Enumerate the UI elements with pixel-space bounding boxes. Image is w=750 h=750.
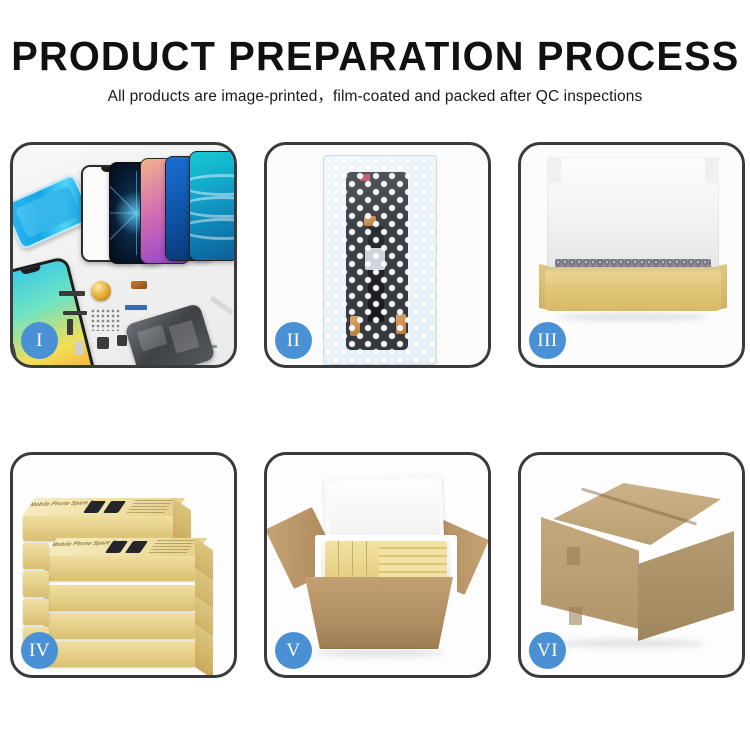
step-image-carton-packing: V [267,455,488,675]
retail-box [23,543,49,569]
drop-shadow [315,649,445,657]
drop-shadow [555,639,705,648]
tweezers-tool-icon [210,296,234,315]
button-flex-part [125,305,147,310]
carton-body [305,577,453,649]
box-lid-open [547,157,719,269]
flex-cable-part [63,311,87,315]
connector-part [131,281,147,289]
page-subtitle: All products are image-printed，film-coat… [0,84,750,106]
step-badge-4: IV [21,632,58,669]
box-tray-yellow [545,267,721,311]
step-image-raw-parts: I [13,145,234,365]
carton-tape-upper [567,547,580,565]
step-panel-2[interactable]: II [264,142,491,368]
vibrator-part [117,335,127,346]
step-badge-6: VI [529,632,566,669]
product-preparation-infographic: PRODUCT PREPARATION PROCESS All products… [0,0,750,750]
step-image-boxed-stack: Mobile Phone Spare Parts Mobile Phone Sp… [13,455,234,675]
camera-ring-part [91,281,111,301]
phone-backplate-part [124,303,216,365]
page-title: PRODUCT PREPARATION PROCESS [11,33,739,80]
carton-side-face [638,531,734,641]
retail-box [23,571,49,597]
step-panel-6[interactable]: VI [518,452,745,678]
antenna-strip-part [59,291,85,296]
retail-box: Mobile Phone Spare Parts [45,555,195,581]
step-badge-2: II [275,322,312,359]
retail-box [45,613,195,639]
step-panel-3[interactable]: III [518,142,745,368]
sim-tray-part [75,341,83,355]
carton-tape-lower [569,607,582,625]
step-panel-5[interactable]: V [264,452,491,678]
speaker-part [97,337,109,349]
retail-box [23,599,49,625]
retail-box [45,641,195,667]
step-image-sealed-carton: VI [521,455,742,675]
bracket-part [67,319,73,335]
step-badge-3: III [529,322,566,359]
step-panel-1[interactable]: I [10,142,237,368]
bubble-texture [324,156,436,364]
retail-box [45,585,195,611]
bubble-wrap-bag [323,155,437,365]
step-image-foam-box: III [521,145,742,365]
drop-shadow [557,313,709,321]
step-badge-5: V [275,632,312,669]
phone-teal-icon [189,151,234,261]
step-panel-4[interactable]: Mobile Phone Spare Parts Mobile Phone Sp… [10,452,237,678]
step-badge-1: I [21,322,58,359]
logic-board-part [91,309,121,331]
steps-grid: I II [10,142,745,690]
step-image-bubble-wrap: II [267,145,488,365]
